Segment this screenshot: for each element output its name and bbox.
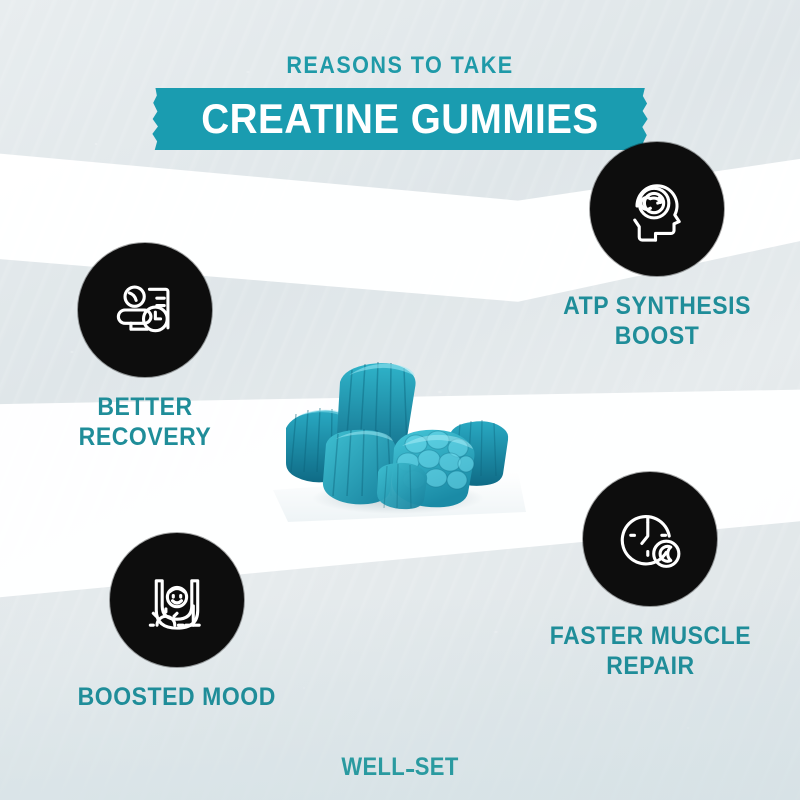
feature-label-better-recovery: BETTER RECOVERY — [39, 393, 251, 452]
head-energy-cycle-icon — [620, 172, 694, 246]
feature-atp-synthesis-boost[interactable]: ATP SYNTHESIS BOOST — [542, 142, 772, 351]
infographic-poster: REASONS TO TAKE CREATINE GUMMIES — [0, 0, 800, 800]
header-banner: CREATINE GUMMIES — [158, 88, 642, 150]
brand-separator-mark — [406, 769, 414, 772]
brand-logo: WELLSET — [48, 753, 752, 782]
feature-label-boosted-mood: BOOSTED MOOD — [78, 683, 276, 713]
brand-name-part1: WELL — [341, 753, 405, 781]
header-kicker: REASONS TO TAKE — [40, 52, 760, 80]
clock-moon-icon — [613, 502, 687, 576]
feature-label-atp-synthesis-boost: ATP SYNTHESIS BOOST — [563, 292, 751, 351]
happy-person-sunrise-icon — [140, 563, 214, 637]
badge-better-recovery — [78, 243, 212, 377]
badge-faster-muscle-repair — [583, 472, 717, 606]
feature-better-recovery[interactable]: BETTER RECOVERY — [30, 243, 260, 452]
header-banner-wrap: CREATINE GUMMIES — [0, 88, 800, 150]
page-title: CREATINE GUMMIES — [201, 98, 598, 140]
sleeping-person-clock-icon — [108, 273, 182, 347]
feature-label-faster-muscle-repair: FASTER MUSCLE REPAIR — [549, 622, 750, 681]
badge-boosted-mood — [110, 533, 244, 667]
feature-faster-muscle-repair[interactable]: FASTER MUSCLE REPAIR — [535, 472, 765, 681]
brand-name-part2: SET — [415, 753, 459, 781]
badge-atp-synthesis-boost — [590, 142, 724, 276]
product-image-gummies — [268, 340, 528, 525]
feature-boosted-mood[interactable]: BOOSTED MOOD — [62, 533, 292, 713]
